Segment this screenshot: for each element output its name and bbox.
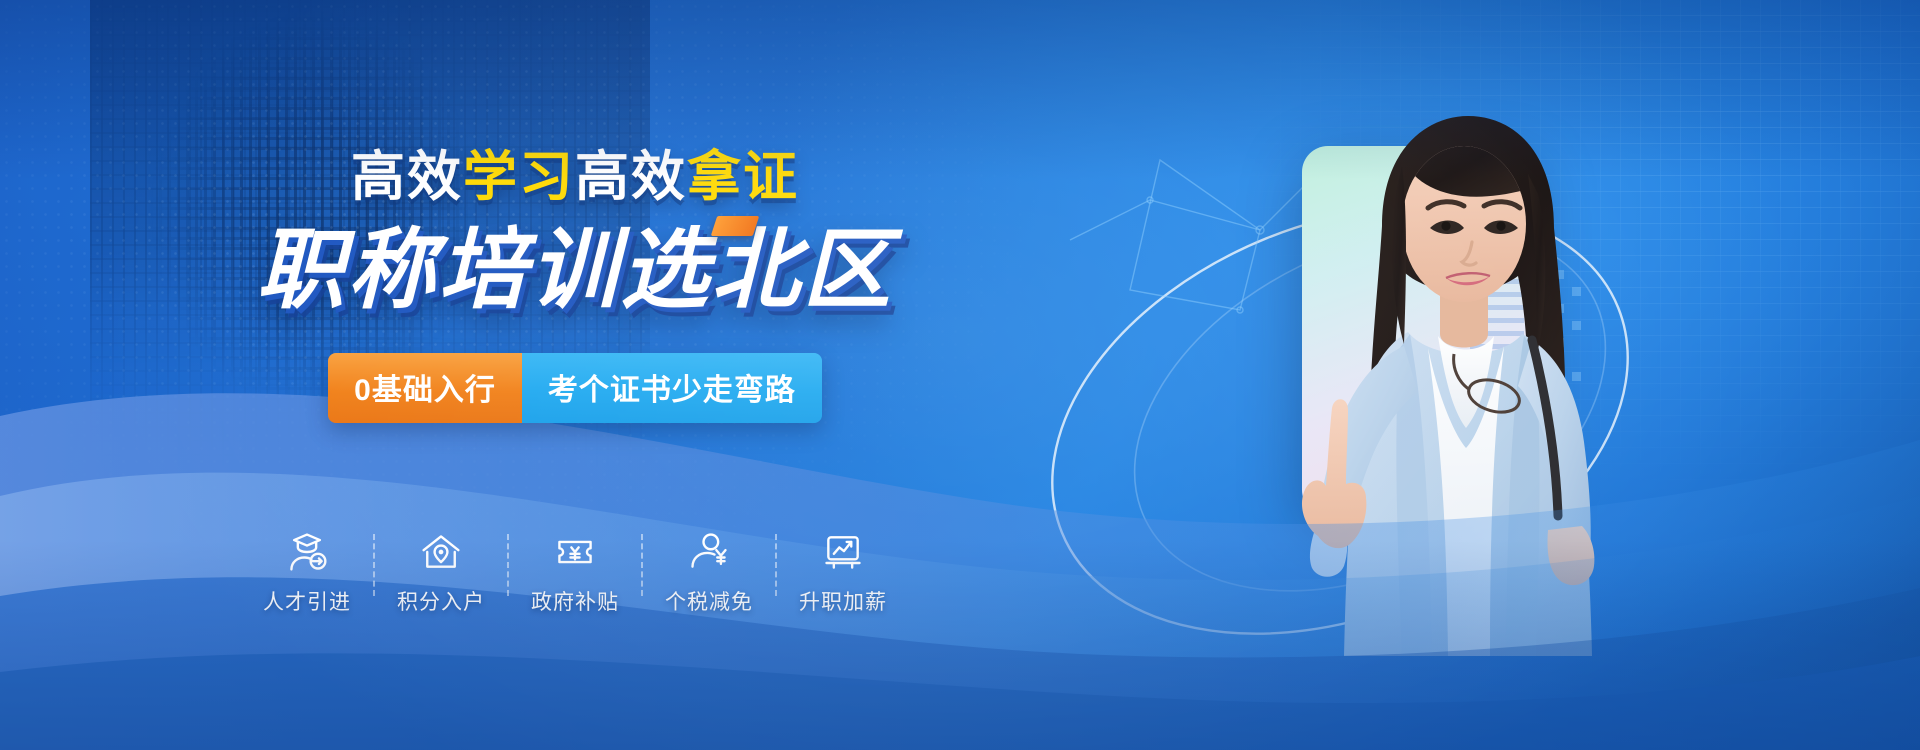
feature-item-subsidy[interactable]: 政府补贴	[509, 530, 641, 616]
feature-label-hukou: 积分入户	[397, 586, 485, 616]
feature-label-tax: 个税减免	[665, 586, 753, 616]
chart-board-icon	[821, 530, 865, 574]
headline-line-1: 高效学习高效拿证	[0, 150, 1150, 204]
headline-line-2-text: 职称培训选北区	[256, 220, 893, 319]
feature-label-talent: 人才引进	[263, 586, 351, 616]
headline-block: 高效学习高效拿证 职称培训选北区 0基础入行 考个证书少走弯路	[0, 150, 1150, 423]
feature-item-promotion[interactable]: 升职加薪	[777, 530, 909, 616]
tagline-pill-primary[interactable]: 0基础入行	[328, 353, 522, 423]
feature-list: 人才引进 积分入户 政府补贴	[0, 530, 1150, 616]
feature-label-subsidy: 政府补贴	[531, 586, 619, 616]
orange-accent-mark	[711, 216, 759, 236]
feature-item-hukou[interactable]: 积分入户	[375, 530, 507, 616]
promo-banner: 高效学习高效拿证 职称培训选北区 0基础入行 考个证书少走弯路 人才引进	[0, 0, 1920, 750]
headline-seg-4: 拿证	[687, 147, 799, 207]
ticket-yuan-icon	[553, 530, 597, 574]
headline-line-2: 职称培训选北区	[0, 222, 1150, 317]
tagline-pill-secondary[interactable]: 考个证书少走弯路	[522, 353, 822, 423]
feature-item-talent[interactable]: 人才引进	[241, 530, 373, 616]
headline-seg-3: 高效	[575, 147, 687, 207]
feature-label-promotion: 升职加薪	[799, 586, 887, 616]
graduate-person-icon	[285, 530, 329, 574]
person-yuan-icon	[687, 530, 731, 574]
headline-seg-1: 高效	[351, 147, 463, 207]
tagline-pills: 0基础入行 考个证书少走弯路	[328, 353, 822, 423]
house-pin-icon	[419, 530, 463, 574]
headline-seg-2: 学习	[463, 147, 575, 207]
feature-item-tax[interactable]: 个税减免	[643, 530, 775, 616]
